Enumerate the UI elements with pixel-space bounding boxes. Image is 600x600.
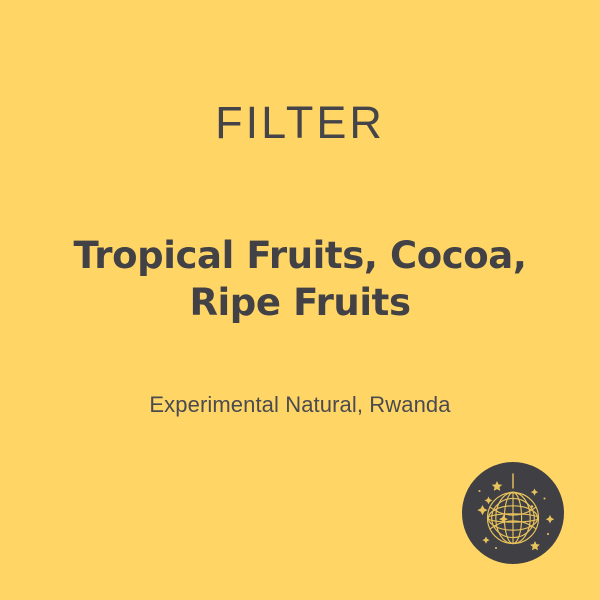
subtitle-process-origin: Experimental Natural, Rwanda: [0, 392, 600, 418]
disco-ball-icon: [462, 462, 564, 564]
title-line-2: Ripe Fruits: [40, 279, 560, 326]
page-title: Tropical Fruits, Cocoa, Ripe Fruits: [40, 232, 560, 327]
category-eyebrow: FILTER: [0, 100, 600, 145]
brand-logo-badge: [462, 462, 564, 564]
title-line-1: Tropical Fruits, Cocoa,: [40, 232, 560, 279]
coffee-bag-label-card: FILTER Tropical Fruits, Cocoa, Ripe Frui…: [0, 0, 600, 600]
